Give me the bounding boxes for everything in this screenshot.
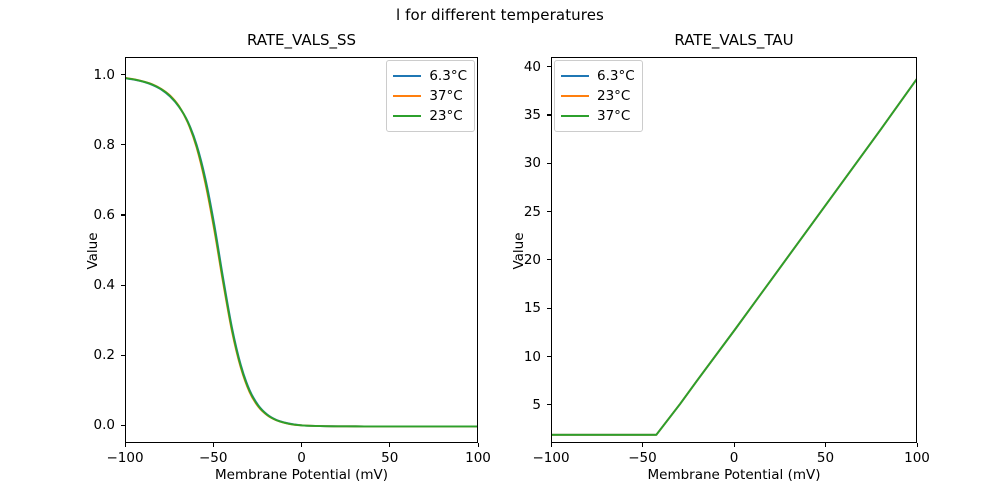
subplot-title-tau: RATE_VALS_TAU bbox=[551, 31, 917, 49]
y-tickmark bbox=[547, 356, 551, 357]
legend-line-swatch bbox=[393, 95, 421, 97]
x-ticklabel: 50 bbox=[817, 450, 834, 466]
y-tickmark bbox=[547, 163, 551, 164]
x-ticklabel: −50 bbox=[628, 450, 657, 466]
ylabel-ss: Value bbox=[85, 191, 101, 311]
y-ticklabel: 1.0 bbox=[63, 67, 115, 83]
y-tickmark bbox=[547, 308, 551, 309]
y-ticklabel: 30 bbox=[489, 155, 541, 171]
x-tickmark bbox=[551, 443, 552, 447]
subplot-rate-vals-ss: RATE_VALS_SS −100−500501000.00.20.40.60.… bbox=[125, 57, 478, 443]
y-ticklabel: 40 bbox=[489, 59, 541, 75]
figure-suptitle: l for different temperatures bbox=[0, 6, 1000, 24]
legend-tau[interactable]: 6.3°C23°C37°C bbox=[554, 60, 643, 132]
x-tickmark bbox=[125, 443, 126, 447]
subplot-rate-vals-tau: RATE_VALS_TAU −100−500501005101520253035… bbox=[551, 57, 917, 443]
subplot-title-ss: RATE_VALS_SS bbox=[125, 31, 478, 49]
x-ticklabel: 0 bbox=[730, 450, 739, 466]
legend-line-swatch bbox=[393, 115, 421, 117]
legend-label: 37°C bbox=[429, 88, 462, 104]
legend-line-swatch bbox=[561, 95, 589, 97]
y-ticklabel: 0.0 bbox=[63, 417, 115, 433]
y-tickmark bbox=[547, 211, 551, 212]
x-ticklabel: −100 bbox=[106, 450, 143, 466]
xlabel-ss: Membrane Potential (mV) bbox=[125, 467, 478, 483]
x-tickmark bbox=[301, 443, 302, 447]
legend-entry[interactable]: 6.3°C bbox=[393, 66, 467, 86]
x-tickmark bbox=[213, 443, 214, 447]
legend-entry[interactable]: 37°C bbox=[561, 106, 635, 126]
x-tickmark bbox=[825, 443, 826, 447]
y-tickmark bbox=[121, 74, 125, 75]
legend-label: 37°C bbox=[597, 108, 630, 124]
y-tickmark bbox=[547, 259, 551, 260]
y-ticklabel: 0.8 bbox=[63, 137, 115, 153]
x-tickmark bbox=[389, 443, 390, 447]
x-tickmark bbox=[478, 443, 479, 447]
legend-line-swatch bbox=[393, 75, 421, 77]
ylabel-tau: Value bbox=[511, 191, 527, 311]
legend-line-swatch bbox=[561, 75, 589, 77]
x-ticklabel: −50 bbox=[199, 450, 228, 466]
matplotlib-figure: l for different temperatures RATE_VALS_S… bbox=[0, 0, 1000, 500]
y-tickmark bbox=[121, 285, 125, 286]
y-ticklabel: 5 bbox=[489, 397, 541, 413]
xlabel-tau: Membrane Potential (mV) bbox=[551, 467, 917, 483]
legend-label: 23°C bbox=[429, 108, 462, 124]
legend-label: 6.3°C bbox=[429, 68, 467, 84]
x-ticklabel: 0 bbox=[297, 450, 306, 466]
y-ticklabel: 35 bbox=[489, 107, 541, 123]
x-ticklabel: −100 bbox=[532, 450, 569, 466]
y-ticklabel: 10 bbox=[489, 349, 541, 365]
y-tickmark bbox=[547, 66, 551, 67]
x-tickmark bbox=[642, 443, 643, 447]
y-tickmark bbox=[547, 404, 551, 405]
y-tickmark bbox=[121, 144, 125, 145]
y-tickmark bbox=[547, 114, 551, 115]
x-tickmark bbox=[734, 443, 735, 447]
legend-entry[interactable]: 37°C bbox=[393, 86, 467, 106]
y-ticklabel: 0.2 bbox=[63, 347, 115, 363]
x-ticklabel: 100 bbox=[904, 450, 930, 466]
legend-entry[interactable]: 6.3°C bbox=[561, 66, 635, 86]
x-ticklabel: 100 bbox=[465, 450, 491, 466]
legend-entry[interactable]: 23°C bbox=[393, 106, 467, 126]
legend-line-swatch bbox=[561, 115, 589, 117]
y-tickmark bbox=[121, 425, 125, 426]
x-ticklabel: 50 bbox=[381, 450, 398, 466]
y-tickmark bbox=[121, 214, 125, 215]
legend-label: 6.3°C bbox=[597, 68, 635, 84]
y-tickmark bbox=[121, 355, 125, 356]
x-tickmark bbox=[917, 443, 918, 447]
legend-ss[interactable]: 6.3°C37°C23°C bbox=[386, 60, 475, 132]
legend-label: 23°C bbox=[597, 88, 630, 104]
legend-entry[interactable]: 23°C bbox=[561, 86, 635, 106]
